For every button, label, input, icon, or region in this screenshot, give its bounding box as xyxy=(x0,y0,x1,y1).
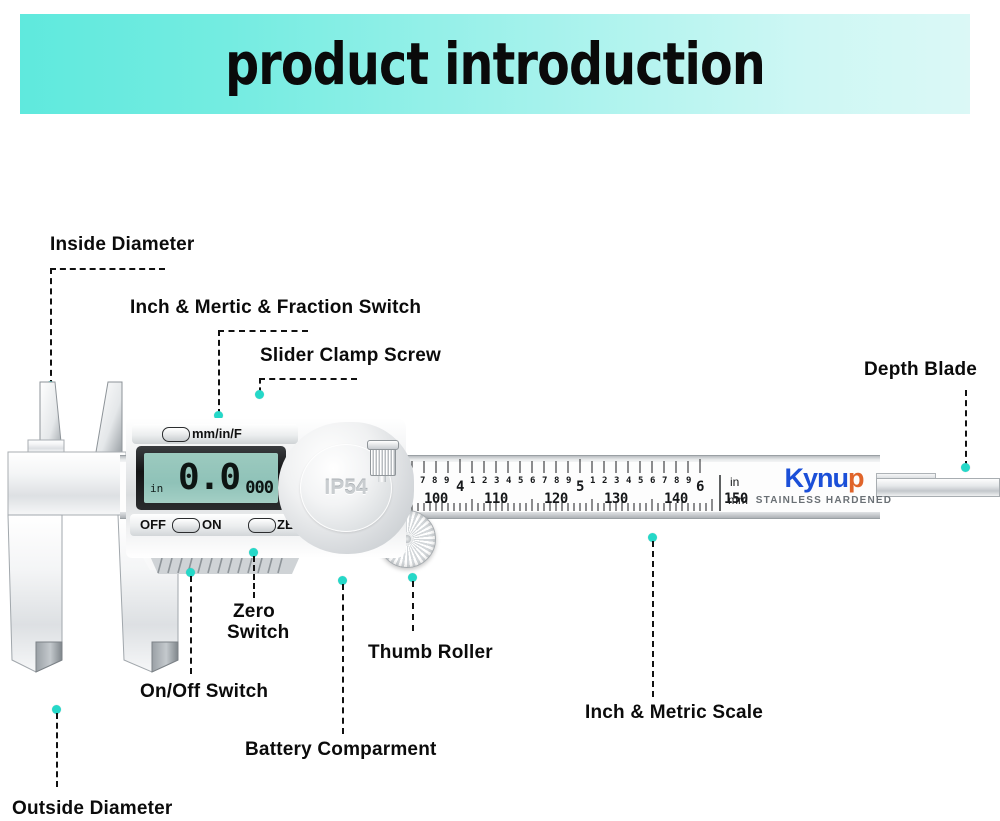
digital-caliper-illustration: 1 2 3 4 5 6 7 0 10 20 4 5 6 7 8 9 4 1 2 … xyxy=(0,360,1000,700)
lcd-value-sub: 000 xyxy=(245,480,273,497)
tick-r-inch-s18: 3 xyxy=(614,476,619,486)
callout-label-zero-switch-line1: Zero xyxy=(233,601,275,622)
callout-label-battery: Battery Comparment xyxy=(245,739,437,760)
brand-name-p: p xyxy=(848,463,864,493)
tick-mm-100: 100 xyxy=(424,491,448,507)
tick-r-inch-s7: 1 xyxy=(470,476,475,486)
tick-r-inch-s8: 2 xyxy=(482,476,487,486)
lcd-unit-label: in xyxy=(150,482,163,495)
brand-name-ynu: ynu xyxy=(803,463,848,493)
tick-r-inch-major-4: 4 xyxy=(456,479,464,495)
tick-r-inch-s10: 4 xyxy=(506,476,511,486)
callout-label-mode-switch: Inch & Mertic & Fraction Switch xyxy=(130,297,421,318)
brand-name-k: K xyxy=(784,463,803,493)
callout-label-outside-diameter: Outside Diameter xyxy=(12,798,173,819)
clamp-screw[interactable] xyxy=(370,446,396,476)
tick-r-inch-s21: 6 xyxy=(650,476,655,486)
lcd-value-main: 0.0 xyxy=(178,456,240,500)
brand-logo: Kynup STAINLESS HARDENED xyxy=(744,462,904,508)
tick-r-inch-s13: 7 xyxy=(542,476,547,486)
tick-r-inch-s17: 2 xyxy=(602,476,607,486)
callout-label-zero-switch-line2: Switch xyxy=(227,622,289,643)
tick-r-inch-s19: 4 xyxy=(626,476,631,486)
tick-r-inch-s4: 7 xyxy=(420,476,425,486)
tick-r-inch-s20: 5 xyxy=(638,476,643,486)
tick-r-inch-s6: 9 xyxy=(444,476,449,486)
brand-tagline: STAINLESS HARDENED xyxy=(756,495,892,506)
tick-r-inch-s14: 8 xyxy=(554,476,559,486)
mode-button[interactable] xyxy=(162,427,190,442)
brand-name: Kynup xyxy=(784,465,863,492)
lcd-display: in 0.0 000 xyxy=(144,453,278,503)
tick-r-inch-s22: 7 xyxy=(662,476,667,486)
callout-label-onoff-switch: On/Off Switch xyxy=(140,681,268,702)
tick-r-inch-s12: 6 xyxy=(530,476,535,486)
page-title: product introduction xyxy=(106,14,885,114)
infographic-canvas: product introduction Inside Diameter Inc… xyxy=(0,0,1000,821)
callout-label-thumb-roller: Thumb Roller xyxy=(368,642,493,663)
tick-r-inch-s11: 5 xyxy=(518,476,523,486)
off-label: OFF xyxy=(140,517,166,532)
callout-label-inch-metric-scale: Inch & Metric Scale xyxy=(585,702,763,723)
clamp-screw-cap[interactable] xyxy=(367,440,399,450)
zero-button[interactable] xyxy=(248,518,276,533)
mode-button-label: mm/in/F xyxy=(192,426,242,441)
ip-rating-badge: IP54 xyxy=(324,476,367,500)
tick-r-inch-s23: 8 xyxy=(674,476,679,486)
lcd-bezel: in 0.0 000 xyxy=(136,446,286,510)
power-button[interactable] xyxy=(172,518,200,533)
scale-unit-inch: in xyxy=(730,475,739,489)
tick-r-inch-major-6: 6 xyxy=(696,479,704,495)
tick-mm-140: 140 xyxy=(664,491,688,507)
tick-mm-130: 130 xyxy=(604,491,628,507)
tick-r-inch-s15: 9 xyxy=(566,476,571,486)
tick-r-inch-s5: 8 xyxy=(432,476,437,486)
tick-r-inch-s9: 3 xyxy=(494,476,499,486)
callout-label-inside-diameter: Inside Diameter xyxy=(50,234,195,255)
tick-r-inch-s16: 1 xyxy=(590,476,595,486)
tick-r-inch-s24: 9 xyxy=(686,476,691,486)
tick-mm-110: 110 xyxy=(484,491,508,507)
tick-r-inch-major-5: 5 xyxy=(576,479,584,495)
on-label: ON xyxy=(202,517,222,532)
header-banner: product introduction xyxy=(20,14,970,114)
tick-mm-120: 120 xyxy=(544,491,568,507)
caliper-slider-head: mm/in/F in 0.0 000 OFF ON ZERO IP54 xyxy=(126,418,406,558)
